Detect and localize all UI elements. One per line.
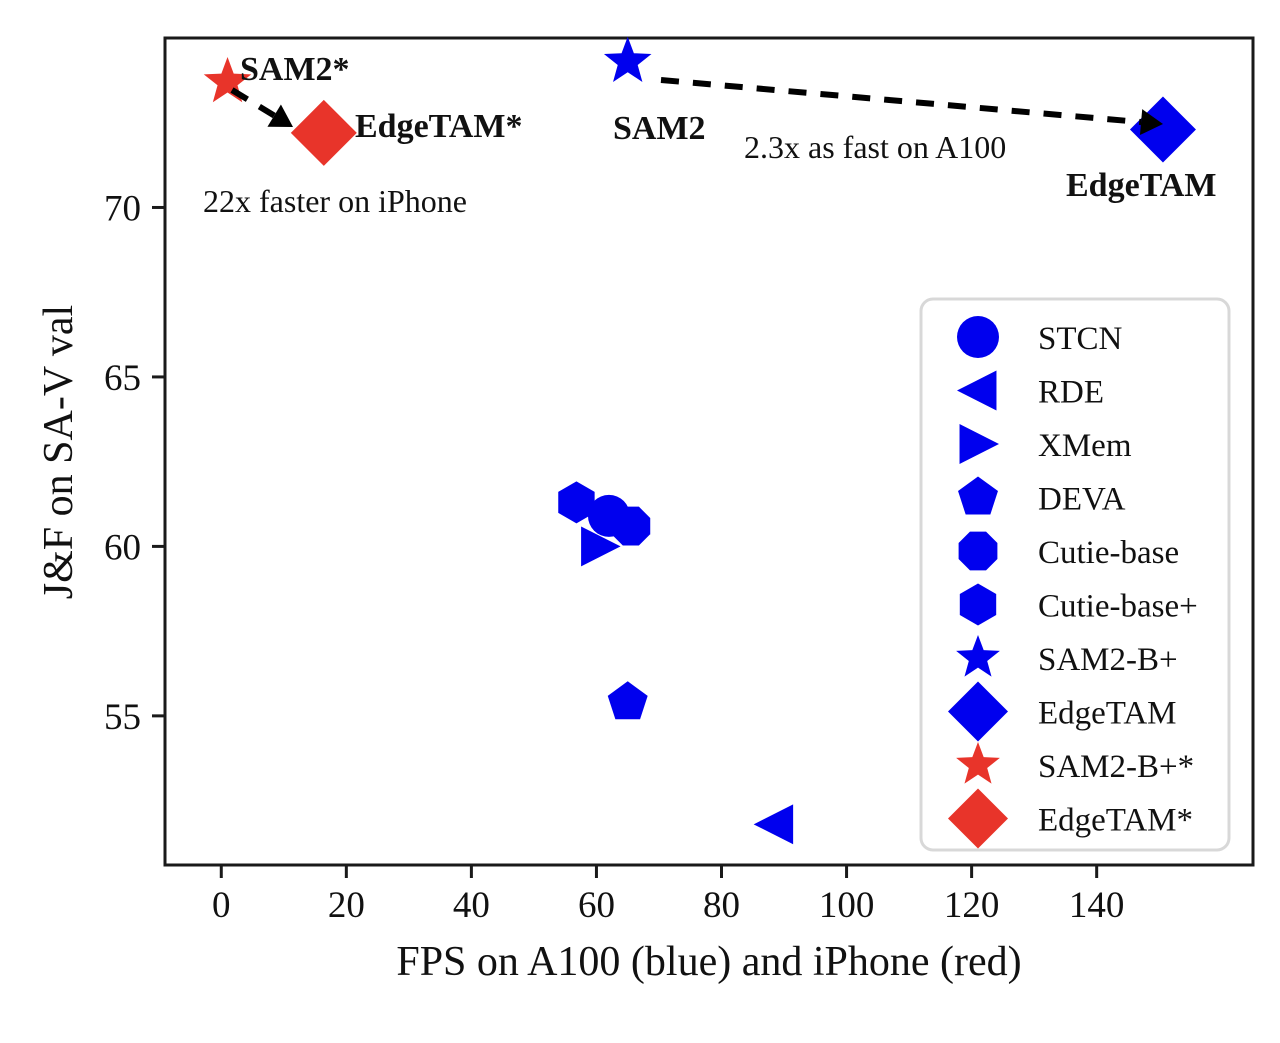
legend-label-edgetam: EdgeTAM xyxy=(1038,696,1177,732)
x-tick-label: 120 xyxy=(944,885,1000,926)
annotation-2-3x-as-fast-on-a100: 2.3x as fast on A100 xyxy=(744,129,1006,165)
x-axis-ticks: 020406080100120140 xyxy=(212,865,1124,926)
legend-label-sam2-b: SAM2-B+ xyxy=(1038,642,1178,678)
datapoint-edgetam xyxy=(291,100,357,166)
x-tick-label: 0 xyxy=(212,885,231,926)
legend-label-cutie-base: Cutie-base xyxy=(1038,535,1179,571)
legend-label-sam2-b: SAM2-B+* xyxy=(1038,749,1194,785)
x-tick-label: 80 xyxy=(703,885,740,926)
legend-label-rde: RDE xyxy=(1038,375,1104,411)
datapoint-sam2-b xyxy=(604,37,652,82)
annotation-edgetam: EdgeTAM xyxy=(1066,167,1216,204)
annotation-sam2: SAM2 xyxy=(613,110,706,147)
y-tick-label: 60 xyxy=(104,527,141,568)
chart-svg: 020406080100120140 55606570 FPS on A100 … xyxy=(0,0,1280,1043)
y-axis-title: J&F on SA-V val xyxy=(36,305,82,599)
x-tick-label: 20 xyxy=(328,885,365,926)
annotation-22x-faster-on-iphone: 22x faster on iPhone xyxy=(203,183,467,219)
scatter-chart-figure: 020406080100120140 55606570 FPS on A100 … xyxy=(0,0,1280,1043)
y-tick-label: 70 xyxy=(104,188,141,229)
y-tick-label: 55 xyxy=(104,697,141,738)
x-tick-label: 60 xyxy=(578,885,615,926)
datapoint-cutie-base xyxy=(611,507,650,546)
legend-marker-cutie-base xyxy=(959,532,998,571)
legend-label-deva: DEVA xyxy=(1038,482,1126,518)
y-axis-ticks: 55606570 xyxy=(104,188,165,737)
x-tick-label: 100 xyxy=(819,885,875,926)
x-axis-title: FPS on A100 (blue) and iPhone (red) xyxy=(396,939,1021,985)
legend-item-stcn[interactable]: STCN xyxy=(957,316,1123,358)
annotation-texts-group: SAM2*EdgeTAM*22x faster on iPhoneSAM22.3… xyxy=(203,51,1216,219)
x-tick-label: 140 xyxy=(1069,885,1125,926)
datapoint-deva xyxy=(608,681,648,719)
legend-label-edgetam: EdgeTAM* xyxy=(1038,803,1193,839)
datapoint-rde xyxy=(754,804,793,844)
annotation-sam2: SAM2* xyxy=(240,51,350,88)
annotation-edgetam: EdgeTAM* xyxy=(355,108,522,145)
legend-label-xmem: XMem xyxy=(1038,428,1132,464)
y-tick-label: 65 xyxy=(104,358,141,399)
legend-label-cutie-base: Cutie-base+ xyxy=(1038,589,1198,625)
legend-item-deva[interactable]: DEVA xyxy=(958,477,1126,518)
iphone-speedup-arrow xyxy=(232,90,274,116)
chart-legend[interactable]: STCNRDEXMemDEVACutie-baseCutie-base+SAM2… xyxy=(921,299,1229,850)
a100-speedup-arrow xyxy=(661,80,1141,122)
legend-label-stcn: STCN xyxy=(1038,321,1123,357)
legend-marker-stcn xyxy=(957,316,999,358)
datapoint-edgetam xyxy=(1130,97,1196,163)
x-tick-label: 40 xyxy=(453,885,490,926)
